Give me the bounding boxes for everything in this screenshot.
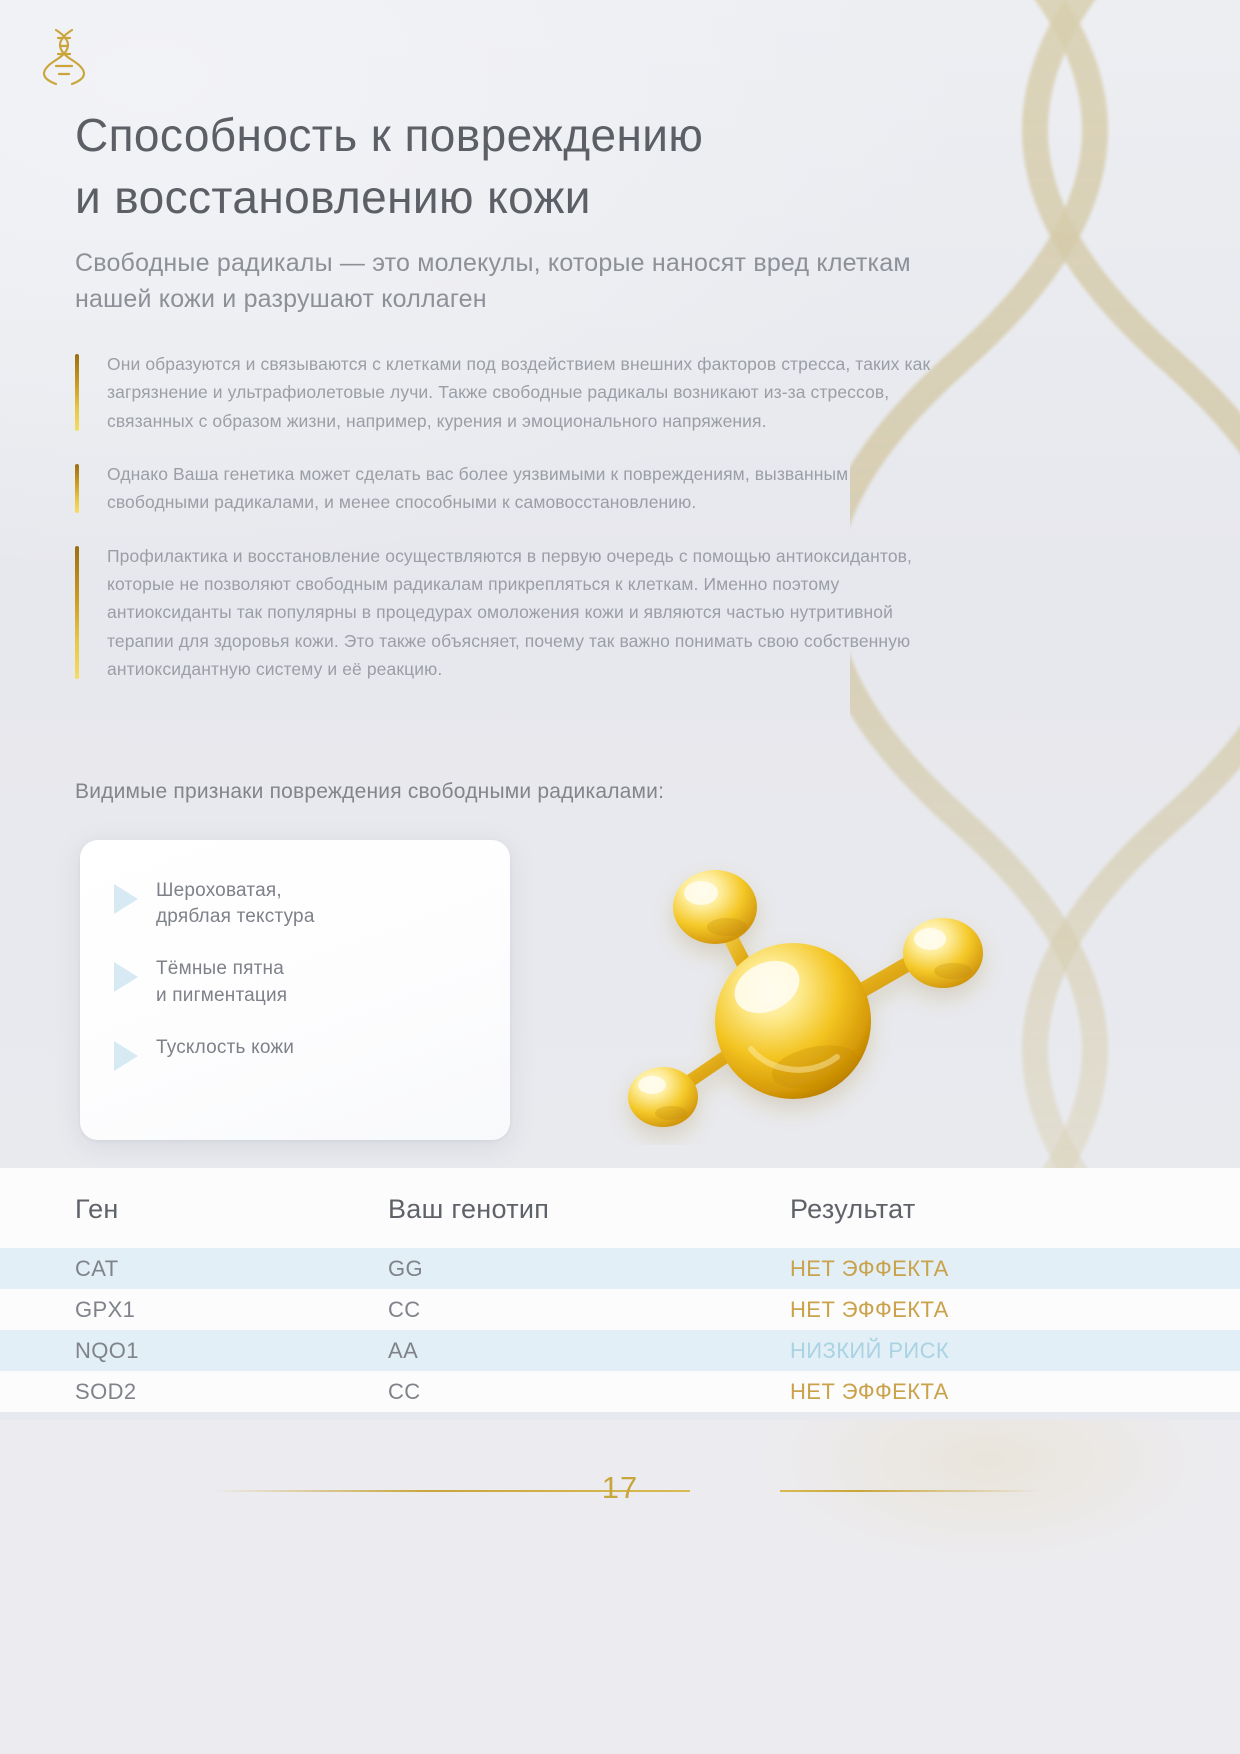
cell-result: НЕТ ЭФФЕКТА	[790, 1256, 949, 1282]
info-block-text: Они образуются и связываются с клетками …	[107, 350, 955, 435]
gold-accent-bar	[75, 546, 79, 680]
cell-result: НИЗКИЙ РИСК	[790, 1338, 949, 1364]
page-subtitle: Свободные радикалы — это молекулы, котор…	[75, 246, 955, 317]
table-row: GPX1 CC НЕТ ЭФФЕКТА	[0, 1289, 1240, 1330]
column-header-genotype: Ваш генотип	[388, 1194, 549, 1225]
cell-gene: CAT	[75, 1256, 119, 1282]
info-block: Они образуются и связываются с клетками …	[75, 350, 955, 435]
list-item-label: Тусклость кожи	[156, 1035, 294, 1061]
gold-accent-bar	[75, 464, 79, 513]
table-row: NQO1 AA НИЗКИЙ РИСК	[0, 1330, 1240, 1371]
page-title: Способность к повреждению и восстановлен…	[75, 104, 945, 228]
list-item: Шероховатая, дряблая текстура	[114, 878, 490, 930]
column-header-result: Результат	[790, 1194, 916, 1225]
page-title-line-1: Способность к повреждению	[75, 104, 945, 166]
cell-genotype: GG	[388, 1256, 423, 1282]
triangle-bullet-icon	[114, 1041, 138, 1071]
page-number: 17	[0, 1470, 1240, 1506]
page-title-line-2: и восстановлению кожи	[75, 166, 945, 228]
info-block-text: Однако Ваша генетика может сделать вас б…	[107, 460, 955, 517]
report-page: Способность к повреждению и восстановлен…	[0, 0, 1240, 1754]
cell-genotype: CC	[388, 1297, 421, 1323]
triangle-bullet-icon	[114, 962, 138, 992]
list-item-label: Тёмные пятна и пигментация	[156, 956, 287, 1008]
list-item: Тусклость кожи	[114, 1035, 490, 1071]
info-blocks: Они образуются и связываются с клетками …	[75, 350, 955, 708]
cell-result: НЕТ ЭФФЕКТА	[790, 1379, 949, 1405]
table-row: SOD2 CC НЕТ ЭФФЕКТА	[0, 1371, 1240, 1412]
triangle-bullet-icon	[114, 884, 138, 914]
table-row: CAT GG НЕТ ЭФФЕКТА	[0, 1248, 1240, 1289]
cell-result: НЕТ ЭФФЕКТА	[790, 1297, 949, 1323]
info-block: Однако Ваша генетика может сделать вас б…	[75, 460, 955, 517]
list-item-label: Шероховатая, дряблая текстура	[156, 878, 315, 930]
info-block-text: Профилактика и восстановление осуществля…	[107, 542, 955, 684]
footer-decor	[680, 1420, 1240, 1620]
dna-helix-logo	[42, 26, 86, 88]
table-header-row: Ген Ваш генотип Результат	[0, 1168, 1240, 1248]
golden-molecule-illustration	[575, 835, 1005, 1145]
cell-gene: SOD2	[75, 1379, 137, 1405]
gene-results-table: Ген Ваш генотип Результат CAT GG НЕТ ЭФФ…	[0, 1168, 1240, 1412]
info-block: Профилактика и восстановление осуществля…	[75, 542, 955, 684]
cell-genotype: AA	[388, 1338, 418, 1364]
column-header-gene: Ген	[75, 1194, 119, 1225]
page-footer: 17	[0, 1420, 1240, 1754]
gold-accent-bar	[75, 354, 79, 431]
visible-signs-card: Шероховатая, дряблая текстура Тёмные пят…	[80, 840, 510, 1140]
cell-genotype: CC	[388, 1379, 421, 1405]
cell-gene: NQO1	[75, 1338, 139, 1364]
cell-gene: GPX1	[75, 1297, 135, 1323]
list-item: Тёмные пятна и пигментация	[114, 956, 490, 1008]
visible-signs-heading: Видимые признаки повреждения свободными …	[75, 780, 975, 804]
